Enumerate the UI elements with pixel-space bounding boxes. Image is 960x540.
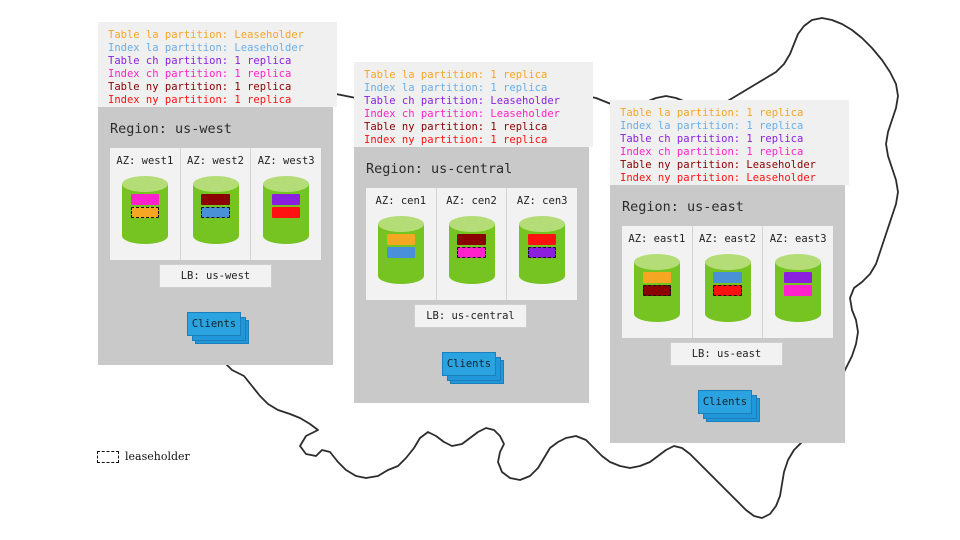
az-label: AZ: cen3 [517,195,568,207]
info-line: Index ch partition: Leaseholder [364,108,583,121]
clients-us-east[interactable]: Clients [698,390,760,422]
info-line: Index la partition: 1 replica [620,120,839,133]
clients-label[interactable]: Clients [442,352,496,376]
database-cylinder[interactable] [449,216,495,284]
info-panel-us-west: Table la partition: Leaseholder Index la… [98,22,337,107]
replica-bars [705,254,751,340]
replica-bar [131,194,160,205]
replica-bar [713,272,742,283]
az-cell-cen3[interactable]: AZ: cen3 [507,188,577,300]
clients-us-west[interactable]: Clients [187,312,249,344]
replica-bar [201,194,230,205]
database-cylinder[interactable] [263,176,309,244]
info-line: Index ch partition: 1 replica [108,68,327,81]
database-cylinder[interactable] [122,176,168,244]
region-title-us-west: Region: us-west [110,121,232,137]
legend-label: leaseholder [125,450,190,463]
replica-bars [122,176,168,262]
replica-bars [193,176,239,262]
replica-bar [784,272,813,283]
az-label: AZ: cen1 [376,195,427,207]
replica-bar-leaseholder [457,247,486,258]
az-cell-east2[interactable]: AZ: east2 [693,226,764,338]
legend: leaseholder [97,450,190,463]
az-label: AZ: west2 [187,155,244,167]
info-line: Table la partition: 1 replica [364,69,583,82]
replica-bar [272,207,301,218]
replica-bars [378,216,424,302]
replica-bar [387,234,416,245]
load-balancer-us-central[interactable]: LB: us-central [414,304,527,328]
leaseholder-swatch-icon [97,451,119,463]
az-label: AZ: west1 [116,155,173,167]
az-label: AZ: west3 [258,155,315,167]
az-label: AZ: cen2 [446,195,497,207]
replica-bars [263,176,309,262]
diagram-canvas: Table la partition: Leaseholder Index la… [0,0,960,540]
replica-bars [634,254,680,340]
info-line: Table ch partition: 1 replica [108,55,327,68]
info-line: Index la partition: Leaseholder [108,42,327,55]
info-line: Table la partition: 1 replica [620,107,839,120]
az-cell-west2[interactable]: AZ: west2 [181,148,252,260]
replica-bar-leaseholder [528,247,557,258]
replica-bars [519,216,565,302]
az-row-us-central: AZ: cen1 AZ: cen2 [366,188,577,300]
info-line: Table ch partition: Leaseholder [364,95,583,108]
clients-label[interactable]: Clients [698,390,752,414]
az-cell-east1[interactable]: AZ: east1 [622,226,693,338]
az-row-us-west: AZ: west1 AZ: west2 [110,148,321,260]
database-cylinder[interactable] [634,254,680,322]
database-cylinder[interactable] [775,254,821,322]
info-line: Table ny partition: 1 replica [364,121,583,134]
replica-bar-leaseholder [713,285,742,296]
database-cylinder[interactable] [193,176,239,244]
region-title-us-central: Region: us-central [366,161,512,177]
replica-bar [528,234,557,245]
replica-bar [272,194,301,205]
load-balancer-us-east[interactable]: LB: us-east [670,342,783,366]
database-cylinder[interactable] [378,216,424,284]
az-cell-east3[interactable]: AZ: east3 [763,226,833,338]
info-line: Table la partition: Leaseholder [108,29,327,42]
replica-bars [775,254,821,340]
info-panel-us-central: Table la partition: 1 replica Index la p… [354,62,593,147]
az-label: AZ: east2 [699,233,756,245]
az-row-us-east: AZ: east1 AZ: east2 [622,226,833,338]
info-line: Index ny partition: 1 replica [364,134,583,147]
replica-bar [457,234,486,245]
replica-bar [784,285,813,296]
replica-bars [449,216,495,302]
az-label: AZ: east3 [770,233,827,245]
info-line: Index ch partition: 1 replica [620,146,839,159]
replica-bar-leaseholder [131,207,160,218]
az-cell-cen2[interactable]: AZ: cen2 [437,188,508,300]
info-line: Table ny partition: Leaseholder [620,159,839,172]
info-line: Index la partition: 1 replica [364,82,583,95]
info-line: Table ny partition: 1 replica [108,81,327,94]
database-cylinder[interactable] [519,216,565,284]
region-title-us-east: Region: us-east [622,199,744,215]
az-label: AZ: east1 [628,233,685,245]
info-line: Index ny partition: Leaseholder [620,172,839,185]
az-cell-west3[interactable]: AZ: west3 [251,148,321,260]
replica-bar [387,247,416,258]
load-balancer-us-west[interactable]: LB: us-west [159,264,272,288]
info-line: Table ch partition: 1 replica [620,133,839,146]
replica-bar-leaseholder [643,285,672,296]
replica-bar [643,272,672,283]
info-panel-us-east: Table la partition: 1 replica Index la p… [610,100,849,185]
database-cylinder[interactable] [705,254,751,322]
clients-us-central[interactable]: Clients [442,352,504,384]
replica-bar-leaseholder [201,207,230,218]
az-cell-west1[interactable]: AZ: west1 [110,148,181,260]
clients-label[interactable]: Clients [187,312,241,336]
az-cell-cen1[interactable]: AZ: cen1 [366,188,437,300]
info-line: Index ny partition: 1 replica [108,94,327,107]
